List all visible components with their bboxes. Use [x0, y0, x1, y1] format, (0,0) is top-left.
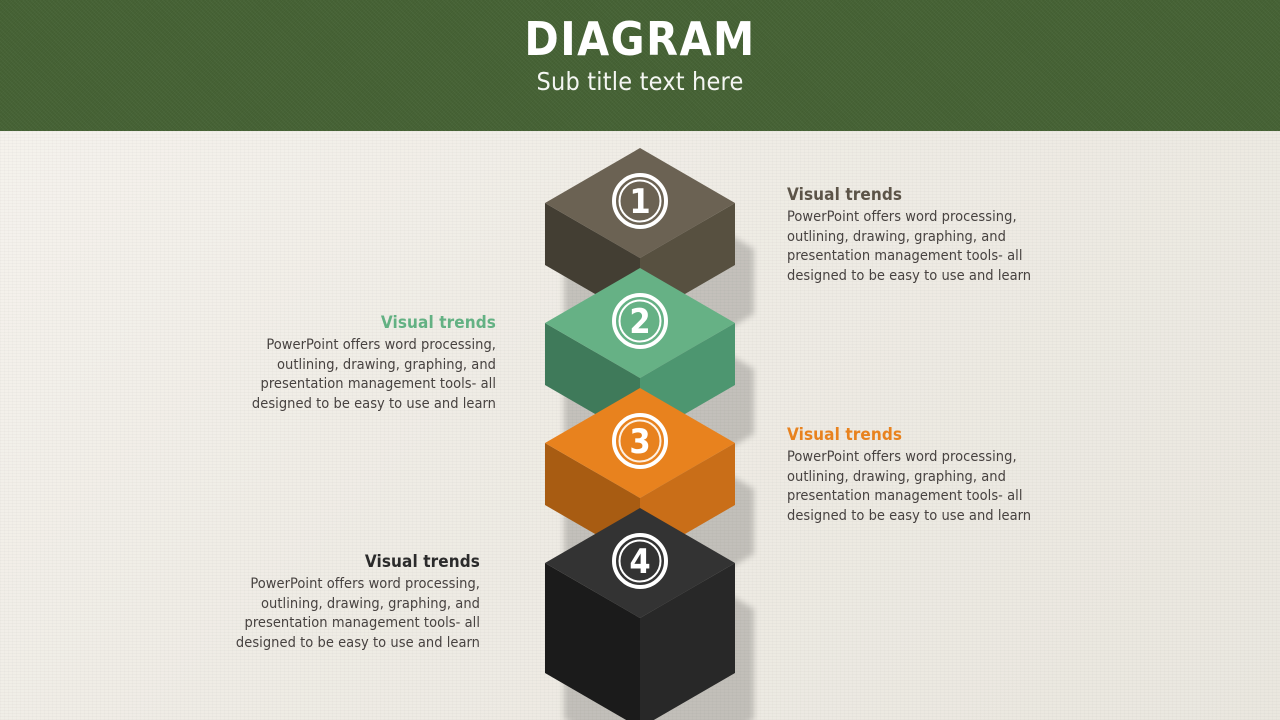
diagram-stack: 1 2 — [0, 0, 1280, 720]
step-2-heading: Visual trends — [224, 313, 496, 333]
node-3-number: 3 — [629, 422, 650, 462]
slide-canvas: DIAGRAM Sub title text here 1 — [0, 0, 1280, 720]
step-2-body: PowerPoint offers word processing, outli… — [224, 336, 496, 414]
step-3-text-block: Visual trends PowerPoint offers word pro… — [787, 425, 1059, 526]
step-1-text-block: Visual trends PowerPoint offers word pro… — [787, 185, 1059, 286]
step-4-body: PowerPoint offers word processing, outli… — [208, 575, 480, 653]
node-2-number: 2 — [629, 302, 650, 342]
step-2-text-block: Visual trends PowerPoint offers word pro… — [224, 313, 496, 414]
node-1-number: 1 — [629, 182, 650, 222]
node-4-number: 4 — [629, 542, 650, 582]
step-4-heading: Visual trends — [208, 552, 480, 572]
step-1-heading: Visual trends — [787, 185, 1059, 205]
step-1-body: PowerPoint offers word processing, outli… — [787, 208, 1059, 286]
diagram-node-4[interactable]: 4 — [505, 500, 775, 720]
step-3-body: PowerPoint offers word processing, outli… — [787, 448, 1059, 526]
step-3-heading: Visual trends — [787, 425, 1059, 445]
step-4-text-block: Visual trends PowerPoint offers word pro… — [208, 552, 480, 653]
